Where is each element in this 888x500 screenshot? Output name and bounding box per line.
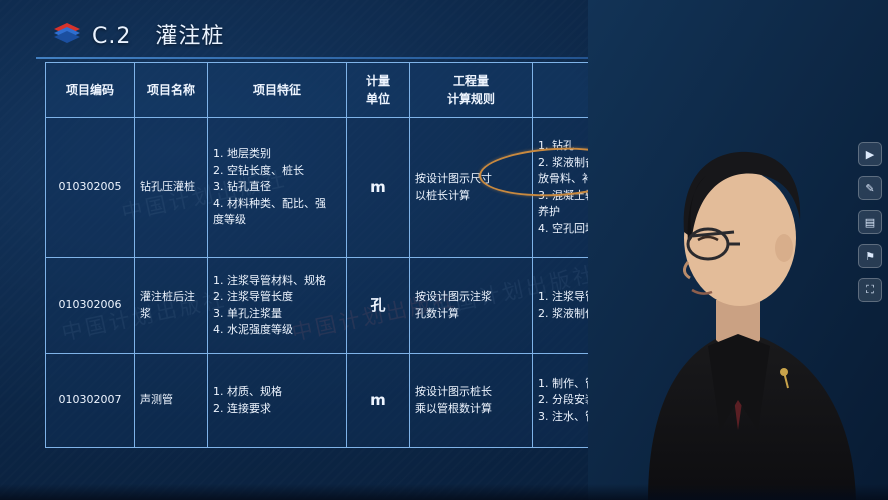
col-header-name: 项目名称 — [135, 63, 208, 118]
specification-table: 项目编码 项目名称 项目特征 计量 单位 工程量 计算规则 — [45, 62, 635, 440]
cell-features: 1. 地层类别 2. 空钻长度、桩长 3. 钻孔直径 4. 材料种类、配比、强 … — [208, 118, 347, 258]
cell-features: 1. 注浆导管材料、规格 2. 注浆导管长度 3. 单孔注浆量 4. 水泥强度等… — [208, 258, 347, 354]
col-header-unit: 计量 单位 — [347, 63, 410, 118]
cell-name: 声测管 — [135, 354, 208, 448]
note-icon[interactable]: ▤ — [858, 210, 882, 234]
cell-rule: 按设计图示注浆 孔数计算 — [410, 258, 533, 354]
bottom-bar — [0, 484, 888, 500]
cell-unit: m — [347, 118, 410, 258]
cell-name: 灌注桩后注浆 — [135, 258, 208, 354]
col-header-code: 项目编码 — [46, 63, 135, 118]
side-toolbar[interactable]: ▶ ✎ ▤ ⚑ ⛶ — [858, 142, 882, 302]
cell-code: 010302006 — [46, 258, 135, 354]
cell-unit: m — [347, 354, 410, 448]
bookmark-icon[interactable]: ⚑ — [858, 244, 882, 268]
pencil-icon[interactable]: ✎ — [858, 176, 882, 200]
cell-rule: 按设计图示桩长 乘以管根数计算 — [410, 354, 533, 448]
presenter-video — [588, 0, 888, 500]
cell-name: 钻孔压灌桩 — [135, 118, 208, 258]
cell-unit: 孔 — [347, 258, 410, 354]
section-label: C.2 — [92, 24, 131, 49]
play-circle-icon[interactable]: ▶ — [858, 142, 882, 166]
cell-features: 1. 材质、规格 2. 连接要求 — [208, 354, 347, 448]
page-title: C.2 灌注桩 — [92, 18, 224, 50]
slide-root: 中国计划出版社 中国计划出版社 中国计划出版社 中国计划出版社 中国计划出版社 … — [0, 0, 888, 500]
cell-rule: 按设计图示尺寸 以桩长计算 — [410, 118, 533, 258]
cell-code: 010302005 — [46, 118, 135, 258]
cell-code: 010302007 — [46, 354, 135, 448]
col-header-rule: 工程量 计算规则 — [410, 63, 533, 118]
section-title: 灌注桩 — [155, 24, 224, 49]
book-stack-icon — [52, 20, 82, 44]
col-header-features: 项目特征 — [208, 63, 347, 118]
fullscreen-icon[interactable]: ⛶ — [858, 278, 882, 302]
